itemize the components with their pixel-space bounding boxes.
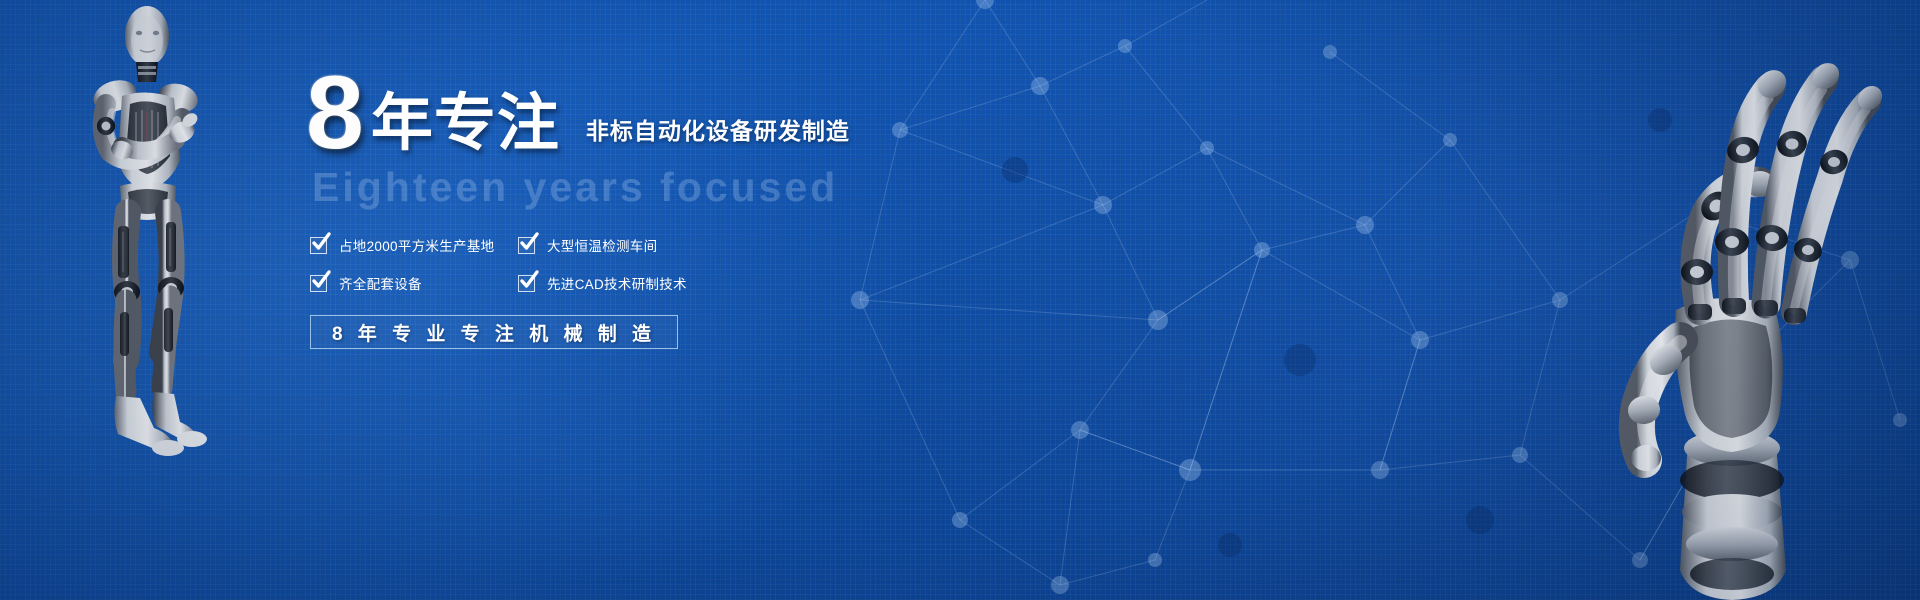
feature-item: 先进CAD技术研制技术: [518, 273, 726, 293]
feature-label: 大型恒温检测车间: [547, 235, 657, 255]
check-icon: [310, 237, 327, 254]
feature-label: 先进CAD技术研制技术: [547, 273, 687, 293]
promo-banner: 8 年专注 非标自动化设备研发制造 Eighteen years focused…: [0, 0, 1920, 600]
feature-label: 占地2000平方米生产基地: [339, 235, 494, 255]
check-icon: [518, 275, 535, 292]
slogan-text: 8 年 专 业 专 注 机 械 制 造: [332, 319, 656, 346]
feature-item: 占地2000平方米生产基地: [310, 235, 518, 255]
headline-english-ghost: Eighteen years focused: [312, 164, 946, 211]
banner-content: 8 年专注 非标自动化设备研发制造 Eighteen years focused…: [306, 72, 946, 349]
feature-label: 齐全配套设备: [339, 273, 422, 293]
feature-item: 齐全配套设备: [310, 273, 518, 293]
feature-list: 占地2000平方米生产基地 大型恒温检测车间 齐全配套设备 先进CAD技术研制技…: [310, 235, 946, 293]
humanoid-robot-figure: [70, 0, 260, 480]
headline-row: 8 年专注 非标自动化设备研发制造: [306, 72, 946, 158]
check-icon: [518, 237, 535, 254]
slogan-bar: 8 年 专 业 专 注 机 械 制 造: [310, 315, 678, 349]
feature-item: 大型恒温检测车间: [518, 235, 726, 255]
headline-subtitle: 非标自动化设备研发制造: [586, 112, 850, 158]
headline-number: 8: [306, 69, 363, 158]
check-icon: [310, 275, 327, 292]
headline-chinese: 年专注: [371, 95, 560, 158]
robotic-hand-figure: [1580, 10, 1910, 600]
